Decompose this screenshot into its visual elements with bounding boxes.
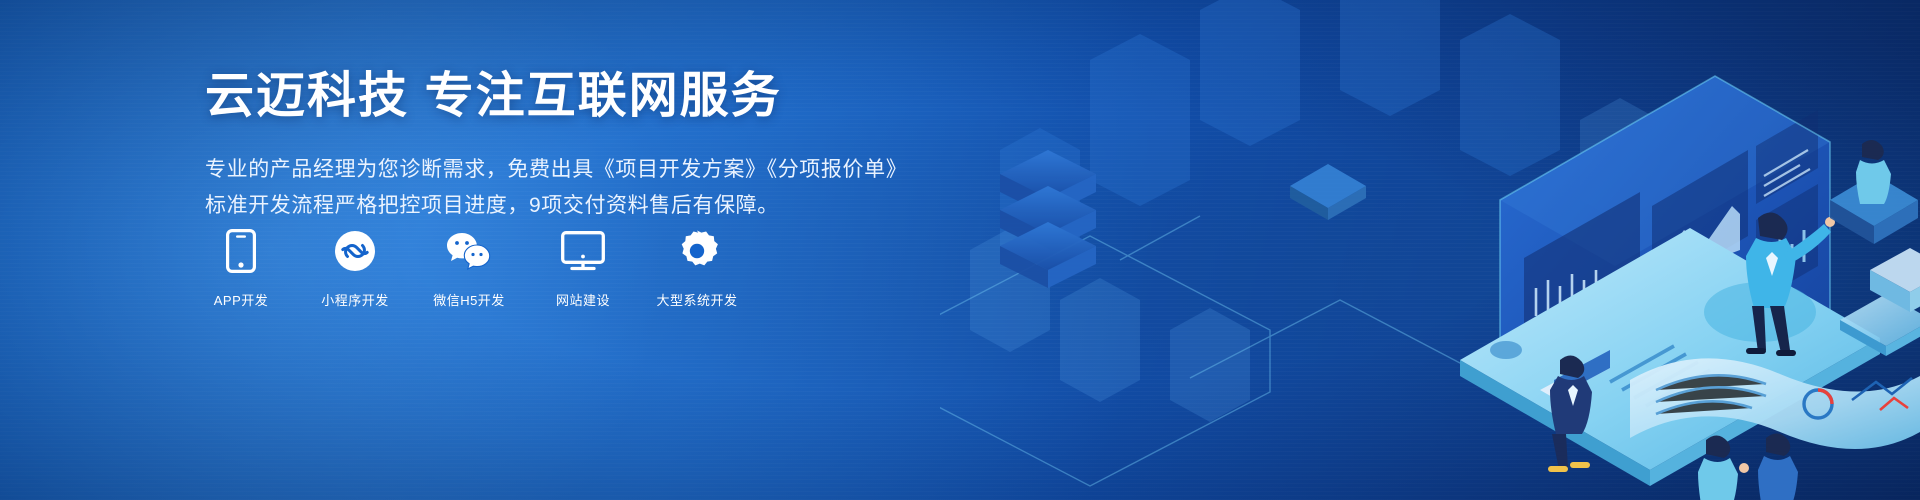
service-item-large-system[interactable]: 大型系统开发 xyxy=(661,228,733,309)
subtitle-line-1: 专业的产品经理为您诊断需求，免费出具《项目开发方案》《分项报价单》 xyxy=(205,152,925,188)
service-label: 网站建设 xyxy=(556,290,610,309)
service-label: APP开发 xyxy=(214,290,269,309)
gear-icon xyxy=(675,228,719,274)
service-item-mini-program[interactable]: 小程序开发 xyxy=(319,228,391,309)
wechat-bubbles-icon xyxy=(446,228,492,274)
hero-banner: 云迈科技 专注互联网服务 专业的产品经理为您诊断需求，免费出具《项目开发方案》《… xyxy=(0,0,1920,500)
service-label: 微信H5开发 xyxy=(433,290,505,309)
smartphone-icon xyxy=(226,228,256,274)
page-title: 云迈科技 专注互联网服务 xyxy=(205,68,925,126)
monitor-icon xyxy=(561,228,605,274)
illustration-isometric-data-platform xyxy=(940,0,1920,500)
service-label: 小程序开发 xyxy=(321,290,389,309)
banner-copy: 云迈科技 专注互联网服务 专业的产品经理为您诊断需求，免费出具《项目开发方案》《… xyxy=(205,68,925,224)
mini-program-icon xyxy=(334,228,376,274)
service-item-website[interactable]: 网站建设 xyxy=(547,228,619,309)
service-item-app[interactable]: APP开发 xyxy=(205,228,277,309)
subtitle-line-2: 标准开发流程严格把控项目进度，9项交付资料售后有保障。 xyxy=(205,188,925,224)
service-label: 大型系统开发 xyxy=(657,290,738,309)
service-item-wechat-h5[interactable]: 微信H5开发 xyxy=(433,228,505,309)
service-list: APP开发 小程序开发 xyxy=(205,228,733,309)
